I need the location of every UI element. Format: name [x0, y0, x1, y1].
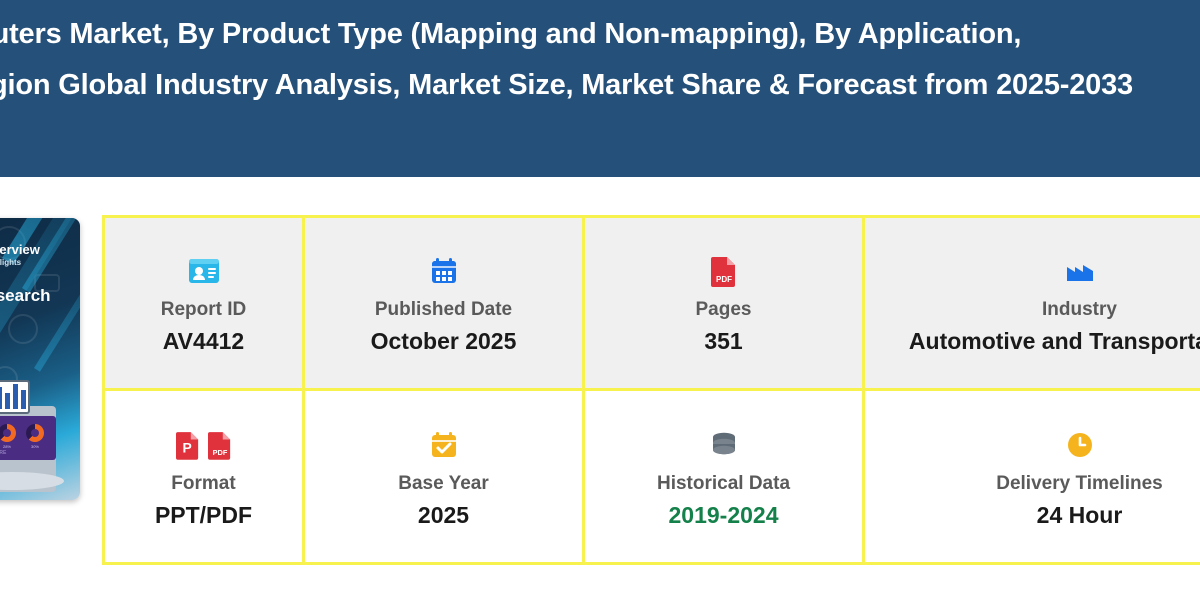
- report-meta-grid: Report ID AV4412 Publish: [102, 215, 1200, 565]
- cover-text-research: Research: [0, 286, 51, 306]
- report-overview-page: Trip Computers Market, By Product Type (…: [0, 0, 1200, 600]
- donut-label: 28%: [0, 444, 16, 449]
- cover-bar-chart-card: [0, 380, 30, 414]
- meta-cell-delivery-timelines: Delivery Timelines 24 Hour: [865, 391, 1200, 562]
- meta-value: PPT/PDF: [155, 502, 252, 529]
- report-cover-thumbnail[interactable]: Overview Highlights Research 42% 28% 30%…: [0, 218, 80, 500]
- decorative-ring-icon: [8, 314, 38, 344]
- meta-label: Format: [171, 473, 235, 495]
- factory-icon: [1065, 251, 1095, 291]
- meta-cell-format: P PDF Format PPT/PDF: [105, 391, 305, 562]
- meta-value: 24 Hour: [1037, 502, 1123, 529]
- svg-text:P: P: [182, 439, 191, 455]
- meta-label: Base Year: [398, 473, 489, 495]
- database-icon: [710, 425, 738, 465]
- donut-chart-icon: [26, 424, 44, 442]
- meta-cell-pages: PDF Pages 351: [585, 218, 865, 391]
- ppt-pdf-icon: P PDF: [176, 425, 232, 465]
- id-card-icon: [188, 251, 220, 291]
- page-title-line-1: Trip Computers Market, By Product Type (…: [0, 9, 1200, 60]
- clock-icon: [1066, 425, 1094, 465]
- meta-cell-historical-data: Historical Data 2019-2024: [585, 391, 865, 562]
- page-title: Trip Computers Market, By Product Type (…: [0, 9, 1200, 111]
- page-title-line-2: and By Region Global Industry Analysis, …: [0, 60, 1200, 111]
- cover-stats-band: 42% 28% 30% MARKET SHARE: [0, 416, 56, 460]
- cover-band-caption: MARKET SHARE: [0, 450, 6, 456]
- meta-label: Pages: [696, 299, 752, 321]
- meta-cell-base-year: Base Year 2025: [305, 391, 585, 562]
- donut-label: 30%: [26, 444, 44, 449]
- meta-cell-published-date: Published Date October 2025: [305, 218, 585, 391]
- meta-label: Delivery Timelines: [996, 473, 1163, 495]
- meta-label: Report ID: [161, 299, 247, 321]
- meta-value: AV4412: [163, 328, 244, 355]
- svg-text:PDF: PDF: [716, 275, 732, 284]
- calendar-icon: [430, 251, 458, 291]
- meta-value: Automotive and Transportation: [909, 328, 1200, 355]
- meta-label: Published Date: [375, 299, 512, 321]
- page-header-band: Trip Computers Market, By Product Type (…: [0, 0, 1200, 177]
- meta-value: 2019-2024: [669, 502, 779, 529]
- meta-value: 2025: [418, 502, 469, 529]
- meta-label: Industry: [1042, 299, 1117, 321]
- cover-text-overview: Overview: [0, 242, 40, 257]
- meta-cell-report-id: Report ID AV4412: [105, 218, 305, 391]
- meta-label: Historical Data: [657, 473, 790, 495]
- meta-value: 351: [704, 328, 742, 355]
- cover-text-highlights: Highlights: [0, 258, 21, 267]
- svg-text:PDF: PDF: [212, 448, 227, 457]
- meta-cell-industry: Industry Automotive and Transportation: [865, 218, 1200, 391]
- donut-chart-icon: [0, 424, 16, 442]
- pdf-file-icon: PDF: [711, 251, 737, 291]
- calendar-check-icon: [430, 425, 458, 465]
- meta-value: October 2025: [371, 328, 517, 355]
